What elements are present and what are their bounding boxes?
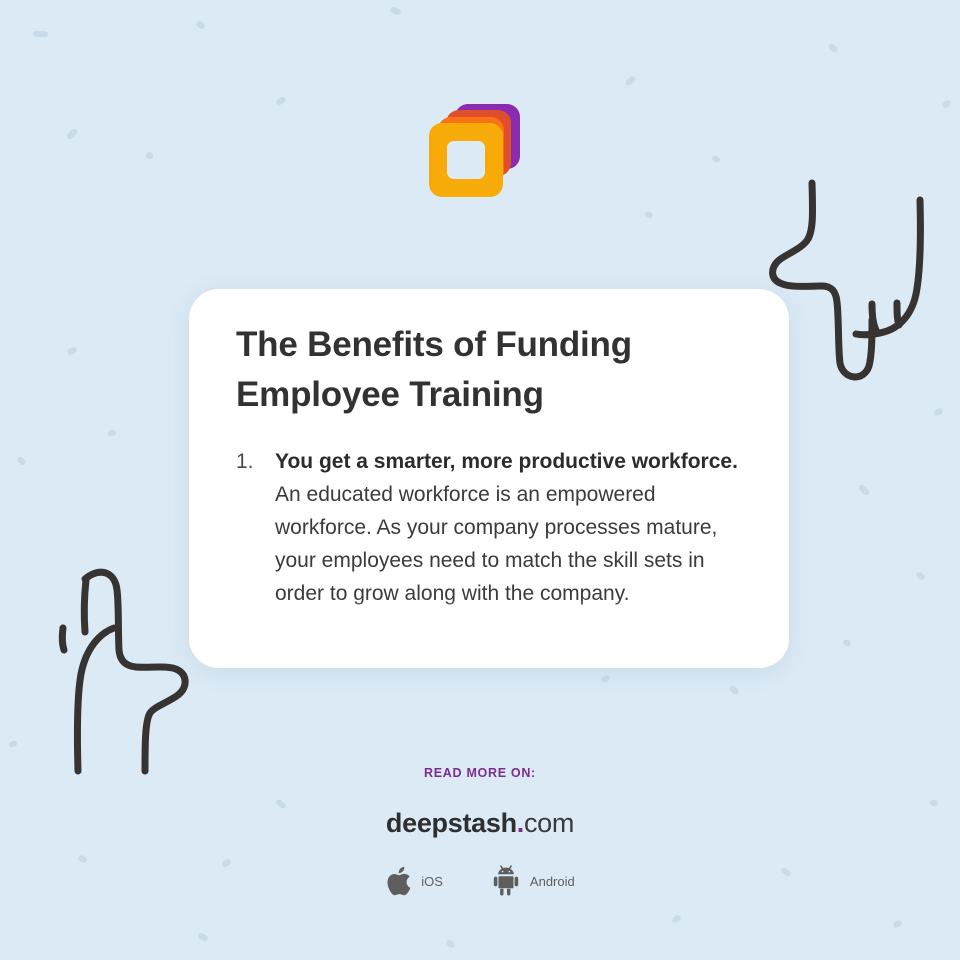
confetti-particle bbox=[827, 42, 839, 53]
ios-label: iOS bbox=[421, 874, 443, 889]
wordmark-dot: . bbox=[517, 808, 524, 838]
footer: READ MORE ON: deepstash.com iOS bbox=[0, 766, 960, 897]
wordmark-tld: com bbox=[524, 808, 574, 838]
confetti-particle bbox=[389, 6, 401, 16]
pointing-hand-up-illustration bbox=[28, 566, 208, 781]
confetti-particle bbox=[842, 639, 852, 648]
confetti-particle bbox=[915, 571, 926, 581]
confetti-particle bbox=[941, 99, 952, 109]
android-label: Android bbox=[530, 874, 575, 889]
list-item-body: An educated workforce is an empowered wo… bbox=[275, 483, 717, 605]
confetti-particle bbox=[624, 75, 636, 87]
confetti-particle bbox=[644, 211, 653, 219]
confetti-particle bbox=[671, 914, 682, 924]
logo-layer-amber bbox=[429, 123, 503, 197]
android-store-badge[interactable]: Android bbox=[491, 865, 575, 897]
content-card: The Benefits of Funding Employee Trainin… bbox=[189, 289, 789, 668]
confetti-particle bbox=[66, 346, 78, 356]
list-item: 1. You get a smarter, more productive wo… bbox=[236, 445, 745, 610]
confetti-particle bbox=[108, 429, 117, 436]
ios-store-badge[interactable]: iOS bbox=[385, 865, 443, 897]
confetti-particle bbox=[197, 932, 209, 942]
confetti-particle bbox=[66, 128, 79, 140]
confetti-particle bbox=[711, 154, 721, 163]
confetti-particle bbox=[16, 456, 27, 466]
apple-icon bbox=[385, 865, 412, 897]
confetti-particle bbox=[445, 939, 456, 949]
idea-list: 1. You get a smarter, more productive wo… bbox=[236, 445, 745, 610]
list-item-marker: 1. bbox=[236, 445, 254, 478]
confetti-particle bbox=[275, 96, 287, 106]
list-item-lead: You get a smarter, more productive workf… bbox=[275, 450, 738, 473]
confetti-particle bbox=[8, 740, 18, 748]
confetti-particle bbox=[858, 484, 871, 496]
confetti-particle bbox=[146, 152, 153, 159]
confetti-particle bbox=[892, 919, 903, 928]
read-more-label: READ MORE ON: bbox=[0, 766, 960, 780]
confetti-particle bbox=[33, 31, 48, 38]
confetti-particle bbox=[600, 674, 611, 684]
deepstash-logo bbox=[428, 104, 520, 198]
confetti-particle bbox=[195, 20, 206, 30]
wordmark-brand: deepstash bbox=[386, 808, 517, 838]
android-icon bbox=[491, 865, 521, 897]
confetti-particle bbox=[933, 407, 944, 417]
page-title: The Benefits of Funding Employee Trainin… bbox=[236, 320, 745, 420]
confetti-particle bbox=[728, 684, 740, 695]
poster-canvas: The Benefits of Funding Employee Trainin… bbox=[0, 0, 960, 960]
deepstash-wordmark[interactable]: deepstash.com bbox=[0, 808, 960, 839]
store-badges: iOS Android bbox=[0, 865, 960, 897]
